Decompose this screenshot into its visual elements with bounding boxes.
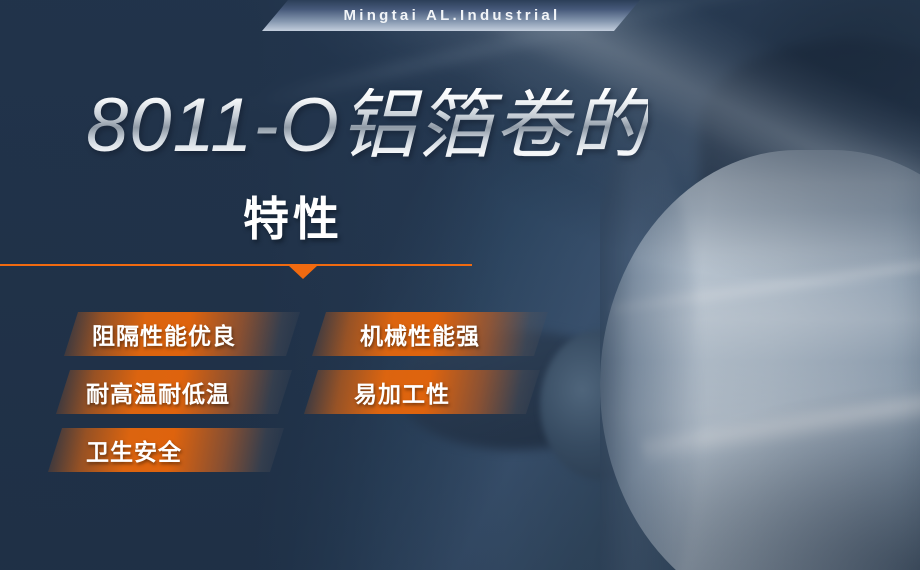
feature-badge: 卫生安全	[48, 428, 284, 472]
feature-badge-label: 耐高温耐低温	[86, 375, 230, 409]
feature-badge-label: 卫生安全	[86, 433, 182, 467]
brand-banner: Mingtai AL.Industrial	[262, 0, 640, 31]
down-triangle-icon	[288, 265, 318, 279]
feature-badge: 易加工性	[304, 370, 540, 414]
feature-badge: 阻隔性能优良	[64, 312, 300, 356]
feature-badge-list: 阻隔性能优良 机械性能强 耐高温耐低温 易加工性 卫生安全	[0, 312, 920, 492]
feature-badge-label: 机械性能强	[360, 317, 480, 351]
divider-line	[0, 264, 472, 266]
feature-badge-label: 阻隔性能优良	[92, 317, 236, 351]
brand-name: Mingtai AL.Industrial	[341, 7, 560, 24]
page-title: 8011-O铝箔卷的	[86, 88, 648, 164]
feature-badge: 机械性能强	[312, 312, 548, 356]
poster-canvas: Mingtai AL.Industrial 8011-O铝箔卷的 特性 阻隔性能…	[0, 0, 920, 570]
feature-badge-label: 易加工性	[354, 375, 450, 409]
page-subtitle: 特性	[243, 196, 343, 242]
feature-badge: 耐高温耐低温	[56, 370, 292, 414]
